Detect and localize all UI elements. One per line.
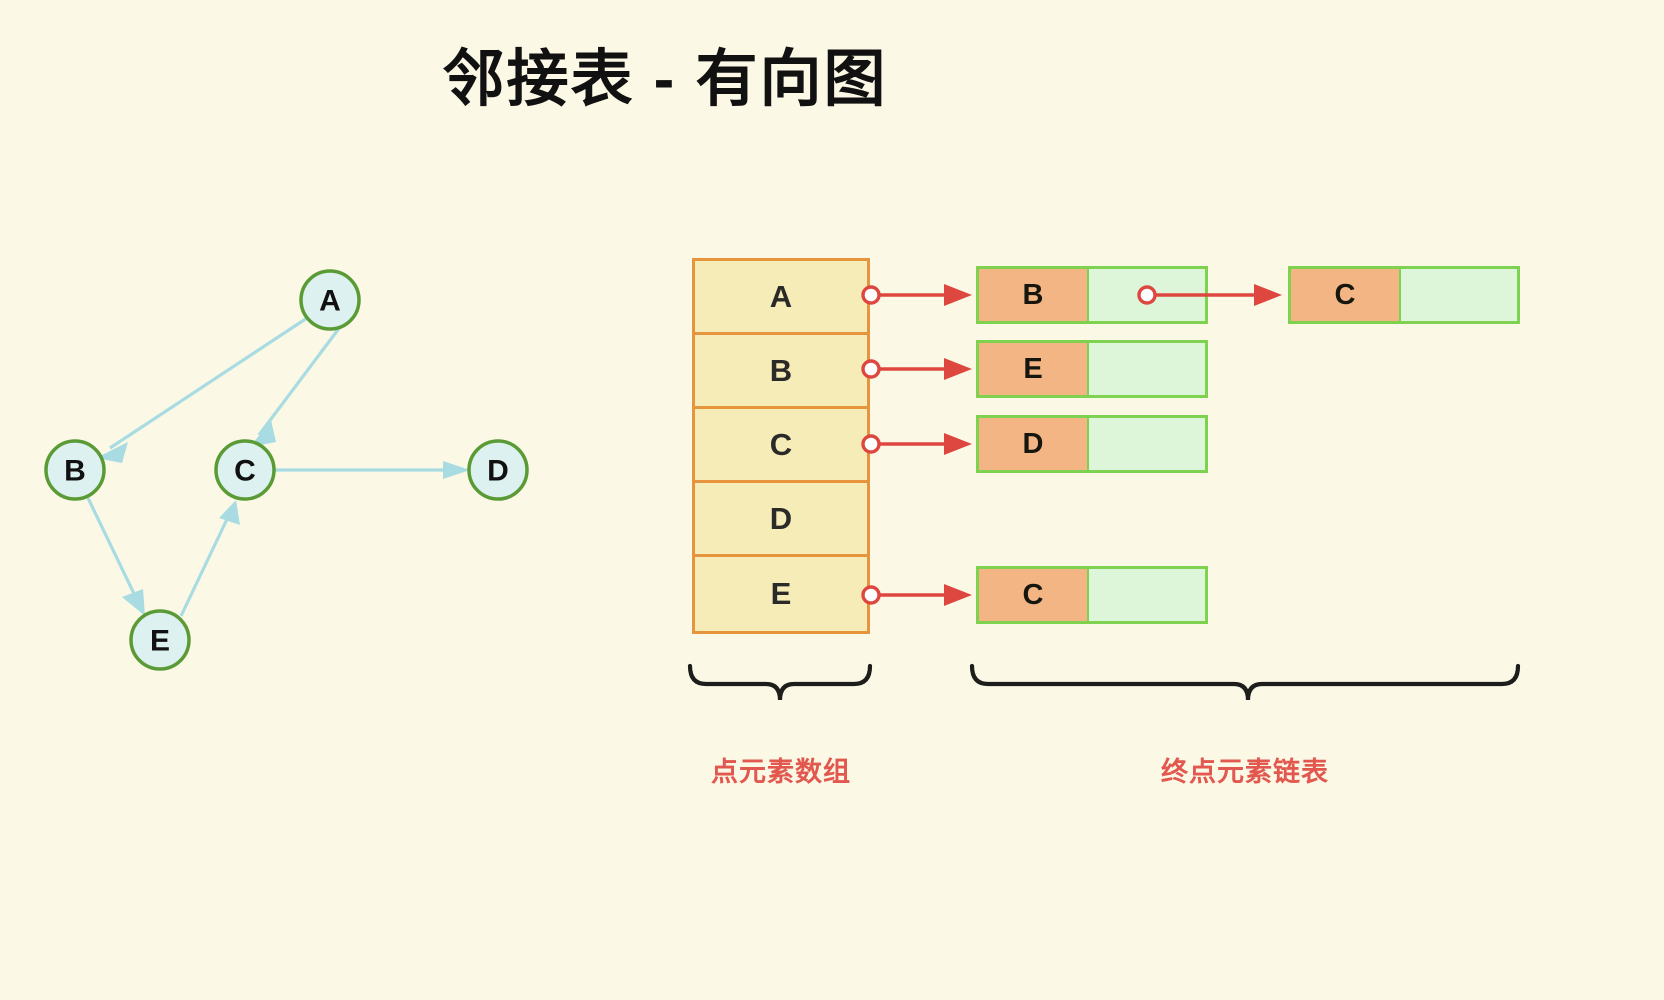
graph-edge-b-e (88, 498, 145, 616)
graph-node-b[interactable]: B (46, 441, 104, 499)
array-caption: 点元素数组 (692, 750, 870, 789)
graph-node-a[interactable]: A (301, 271, 359, 329)
list-node-e-1-value: C (976, 566, 1088, 624)
brace-array (690, 666, 870, 700)
vertex-array-cell-d[interactable]: D (695, 483, 867, 557)
vertex-array-cell-b[interactable]: B (695, 335, 867, 409)
pointer-b-head (863, 358, 972, 380)
graph-node-d-label: D (487, 455, 509, 488)
list-node-a-1-value: B (976, 266, 1088, 324)
diagram-canvas: 邻接表 - 有向图 (0, 0, 1664, 1000)
list-node-b-1-value: E (976, 340, 1088, 398)
page-title: 邻接表 - 有向图 (0, 46, 1330, 114)
list-node-a-2-pointer-cell (1400, 266, 1520, 324)
vertex-array-cell-c[interactable]: C (695, 409, 867, 483)
list-node-b-1-pointer-cell (1088, 340, 1208, 398)
graph-node-c-label: C (234, 455, 256, 488)
vertex-array-cell-a[interactable]: A (695, 261, 867, 335)
list-node-e-1[interactable]: C (976, 566, 1208, 624)
pointer-c-head (863, 433, 972, 455)
list-node-a-2-value: C (1288, 266, 1400, 324)
adjacency-list-structure: A B C D E B C E D C (660, 240, 1660, 860)
list-node-a-1[interactable]: B (976, 266, 1208, 324)
graph-node-e[interactable]: E (131, 611, 189, 669)
list-node-c-1-pointer-cell (1088, 415, 1208, 473)
list-node-a-1-pointer-cell (1088, 266, 1208, 324)
list-node-a-2[interactable]: C (1288, 266, 1520, 324)
graph-edge-c-d (275, 461, 470, 479)
list-node-b-1[interactable]: E (976, 340, 1208, 398)
pointer-a-head (863, 284, 972, 306)
graph-node-b-label: B (64, 455, 86, 488)
graph-node-a-label: A (319, 285, 341, 318)
graph-edge-e-c (181, 500, 240, 616)
list-node-e-1-pointer-cell (1088, 566, 1208, 624)
vertex-array-cell-e[interactable]: E (695, 557, 867, 631)
vertex-array: A B C D E (692, 258, 870, 634)
pointer-e-head (863, 584, 972, 606)
graph-node-d[interactable]: D (469, 441, 527, 499)
graph-node-c[interactable]: C (216, 441, 274, 499)
directed-graph: A B C D E (0, 230, 620, 700)
brace-lists (972, 666, 1518, 700)
list-node-c-1-value: D (976, 415, 1088, 473)
list-caption: 终点元素链表 (972, 750, 1518, 789)
list-node-c-1[interactable]: D (976, 415, 1208, 473)
graph-node-e-label: E (150, 625, 170, 658)
